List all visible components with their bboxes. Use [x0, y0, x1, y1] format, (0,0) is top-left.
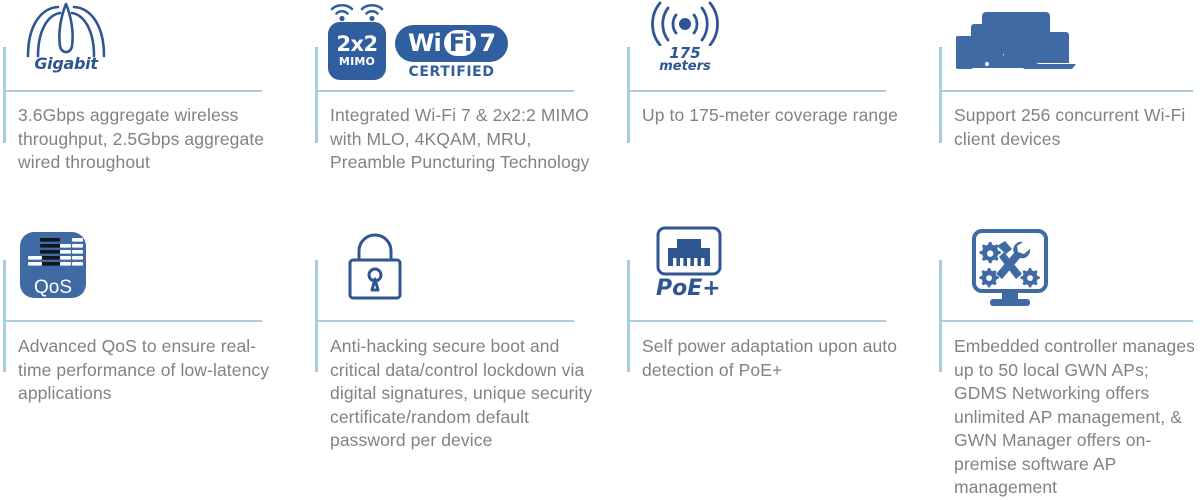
wifi-waves-icon — [328, 0, 386, 22]
equalizer-bars-glyph — [20, 232, 86, 274]
coverage-range-signal-icon: 175 meters — [644, 0, 726, 86]
wifi-certified-label: CERTIFIED — [408, 64, 494, 80]
feature-card-wifi7: 2x2 MIMO Wi Fi 7 ™ CERTIFIED Integrated … — [312, 0, 624, 220]
feature-description: Anti-hacking secure boot and critical da… — [330, 335, 600, 453]
rj45-port-glyph — [656, 226, 722, 276]
feature-card-gigabit: Gigabit 3.6Gbps aggregate wireless throu… — [0, 0, 312, 220]
feature-card-security: Anti-hacking secure boot and critical da… — [312, 220, 624, 487]
trademark-icon: ™ — [499, 26, 506, 33]
feature-description: Embedded controller manages up to 50 loc… — [954, 335, 1200, 500]
wifi-fi-label: Fi — [444, 30, 477, 56]
mimo-box: 2x2 MIMO — [328, 22, 386, 80]
mimo-top-label: 2x2 — [336, 34, 377, 55]
divider-vertical — [3, 47, 6, 143]
feature-grid: Gigabit 3.6Gbps aggregate wireless throu… — [0, 0, 1200, 487]
feature-description: Support 256 concurrent Wi-Fi client devi… — [954, 104, 1200, 151]
wifi-wi-label: Wi — [408, 30, 441, 56]
divider-vertical — [627, 260, 630, 372]
divider-horizontal — [315, 320, 574, 322]
divider-horizontal — [3, 90, 262, 92]
monitor-tools-gears-icon — [971, 228, 1049, 314]
divider-horizontal — [315, 90, 574, 92]
feature-card-qos: QoS Advanced QoS to ensure real-time per… — [0, 220, 312, 487]
divider-horizontal — [939, 320, 1193, 322]
divider-horizontal — [627, 320, 886, 322]
wifi-pill: Wi Fi 7 ™ — [395, 25, 508, 62]
coverage-number-label: 175 — [669, 46, 700, 60]
mimo-bottom-label: MIMO — [339, 55, 375, 68]
wifi-certified-badge: Wi Fi 7 ™ CERTIFIED — [395, 25, 508, 80]
padlock-icon — [344, 230, 406, 316]
feature-card-controller: Embedded controller manages up to 50 loc… — [936, 220, 1200, 487]
feature-description: Up to 175-meter coverage range — [642, 104, 912, 128]
gigabit-antenna-glyph — [18, 2, 114, 60]
divider-vertical — [939, 260, 942, 372]
devices-glyph — [956, 10, 1084, 72]
gigabit-antenna-icon: Gigabit — [18, 2, 114, 88]
divider-vertical — [3, 260, 6, 372]
radio-waves-glyph — [644, 0, 726, 46]
qos-tile-label: QoS — [20, 278, 86, 297]
qos-equalizer-icon: QoS — [20, 232, 86, 318]
feature-card-poe: PoE+ Self power adaptation upon auto det… — [624, 220, 936, 487]
divider-vertical — [939, 47, 942, 143]
ethernet-port-icon: PoE+ — [656, 226, 722, 312]
client-devices-icon — [956, 10, 1084, 96]
divider-horizontal — [627, 90, 886, 92]
wifi-generation-number: 7 — [479, 30, 495, 56]
feature-description: Integrated Wi-Fi 7 & 2x2:2 MIMO with MLO… — [330, 104, 600, 175]
divider-vertical — [315, 47, 318, 143]
monitor-tools-glyph — [971, 228, 1049, 310]
feature-description: 3.6Gbps aggregate wireless throughput, 2… — [18, 104, 288, 175]
feature-card-clients: Support 256 concurrent Wi-Fi client devi… — [936, 0, 1200, 220]
padlock-glyph — [344, 230, 406, 302]
divider-horizontal — [3, 320, 262, 322]
poe-icon-label: PoE+ — [656, 276, 721, 301]
feature-card-coverage: 175 meters Up to 175-meter coverage rang… — [624, 0, 936, 220]
divider-vertical — [627, 47, 630, 143]
feature-description: Self power adaptation upon auto detectio… — [642, 335, 912, 382]
wifi-7-certified-badge-icon: 2x2 MIMO Wi Fi 7 ™ CERTIFIED — [328, 0, 508, 86]
qos-tile: QoS — [20, 232, 86, 298]
gigabit-icon-label: Gigabit — [34, 54, 97, 73]
divider-vertical — [315, 260, 318, 372]
coverage-unit-label: meters — [659, 60, 711, 74]
feature-description: Advanced QoS to ensure real-time perform… — [18, 335, 288, 406]
